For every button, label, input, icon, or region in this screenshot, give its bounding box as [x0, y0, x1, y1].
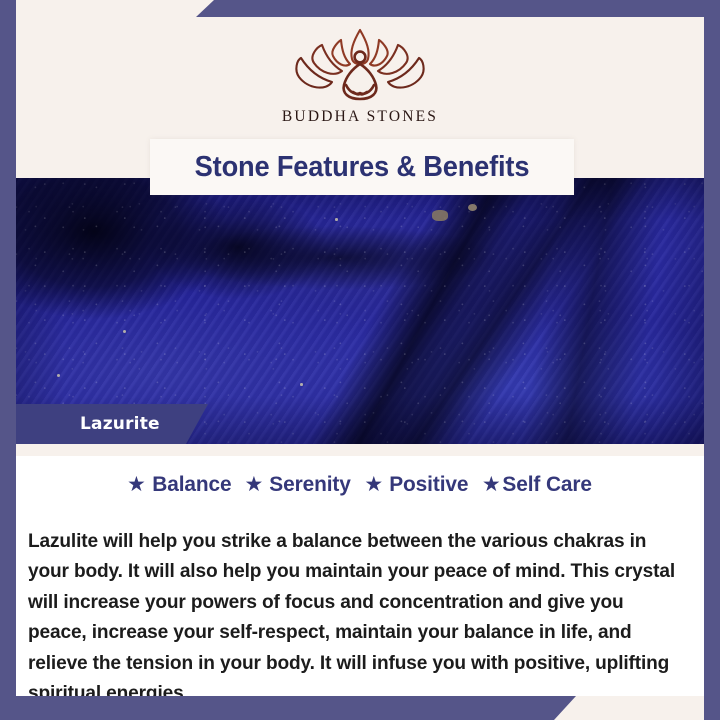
benefits-row: ★ Balance ★ Serenity ★ Positive ★ Self C…: [16, 472, 704, 497]
stone-speck: [57, 374, 60, 377]
benefit-label: Self Care: [502, 472, 592, 497]
card-top-strip: [16, 444, 704, 456]
star-icon: ★: [127, 474, 146, 495]
brand-logo-block: BUDDHA STONES: [16, 23, 704, 126]
stone-name: Lazurite: [16, 414, 160, 434]
stone-speck: [335, 218, 338, 221]
frame-border-bottom: [0, 696, 576, 720]
stone-inclusion: [468, 204, 477, 211]
benefit-item-serenity: ★ Serenity: [237, 472, 353, 497]
benefit-item-balance: ★ Balance: [127, 472, 233, 497]
stone-inclusion: [432, 210, 448, 221]
stone-features-infographic: BUDDHA STONES Stone Features & Benefits …: [0, 0, 720, 720]
star-icon: ★: [364, 474, 383, 495]
benefit-label: Balance: [152, 472, 231, 497]
stone-name-banner: Lazurite: [16, 404, 208, 444]
benefit-item-positive: ★ Positive: [356, 472, 469, 497]
stone-speck: [300, 383, 303, 386]
star-icon: ★: [482, 474, 501, 495]
star-icon: ★: [245, 474, 264, 495]
frame-border-right: [704, 0, 720, 720]
lotus-meditation-logo-icon: [284, 23, 436, 107]
page-title: Stone Features & Benefits: [195, 151, 530, 184]
benefit-item-self-care: ★ Self Care: [474, 472, 593, 497]
benefit-label: Positive: [389, 472, 468, 497]
brand-name-text: BUDDHA STONES: [16, 108, 704, 126]
benefits-content-card: ★ Balance ★ Serenity ★ Positive ★ Self C…: [16, 444, 704, 696]
stone-description: Lazulite will help you strike a balance …: [28, 526, 677, 709]
frame-border-left: [0, 0, 16, 720]
stone-speck: [123, 330, 126, 333]
benefit-label: Serenity: [270, 472, 352, 497]
page-title-banner: Stone Features & Benefits: [150, 139, 574, 195]
frame-border-top: [196, 0, 720, 17]
